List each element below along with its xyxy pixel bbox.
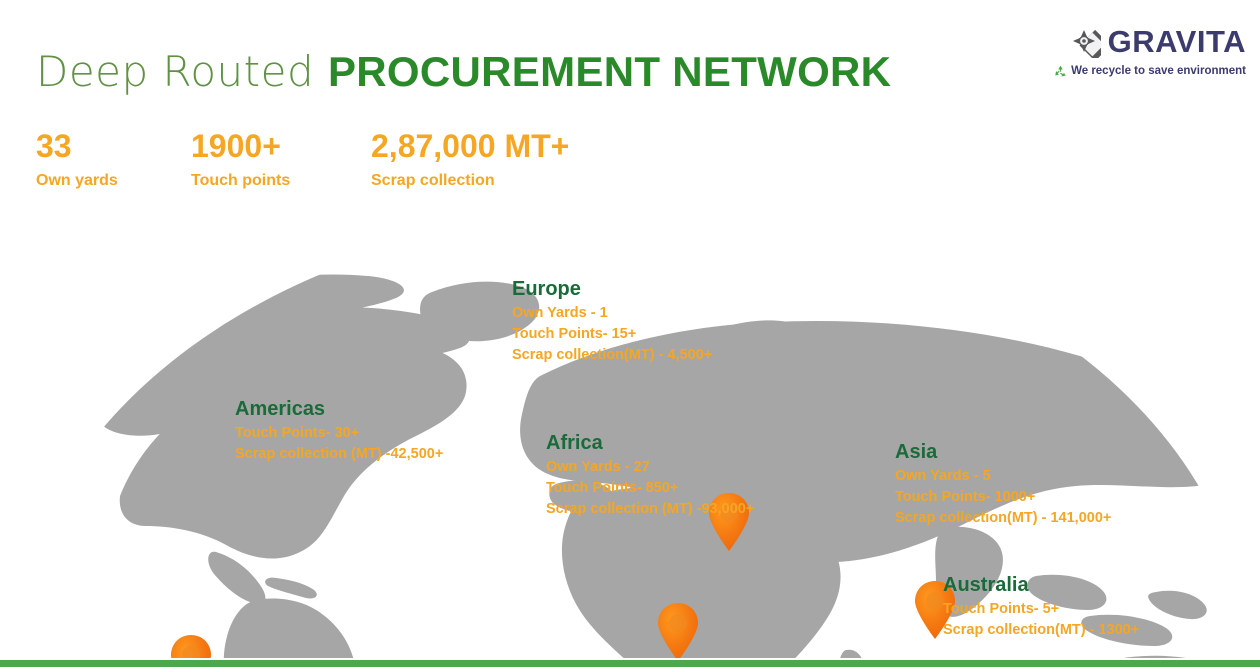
- region-stat-line: Own Yards - 5: [895, 466, 1111, 487]
- footer-accent-bar: [0, 660, 1260, 667]
- stat-label: Scrap collection: [371, 171, 631, 190]
- stat-value: 1900+: [191, 128, 371, 165]
- region-stat-line: Touch Points- 5+: [943, 599, 1139, 620]
- recycle-icon: [1053, 64, 1068, 79]
- region-name: Asia: [895, 441, 1111, 464]
- region-stat-line: Scrap collection (MT) -42,500+: [235, 444, 443, 465]
- region-stat-line: Own Yards - 1: [512, 303, 712, 324]
- stats-row: 33 Own yards 1900+ Touch points 2,87,000…: [36, 128, 631, 190]
- brand-tagline: We recycle to save environment: [1071, 66, 1246, 78]
- region-stat-line: Touch Points- 1000+: [895, 487, 1111, 508]
- region-name: Americas: [235, 398, 443, 421]
- region-label-australia: Australia Touch Points- 5+ Scrap collect…: [943, 574, 1139, 641]
- region-label-africa: Africa Own Yards - 27 Touch Points- 850+…: [546, 432, 754, 520]
- region-name: Australia: [943, 574, 1139, 597]
- region-stat-line: Own Yards - 27: [546, 457, 754, 478]
- region-stat-line: Scrap collection (MT) -93,000+: [546, 499, 754, 520]
- region-label-asia: Asia Own Yards - 5 Touch Points- 1000+ S…: [895, 441, 1111, 529]
- stat-label: Touch points: [191, 171, 371, 190]
- region-stat-line: Scrap collection(MT) - 4,500+: [512, 345, 712, 366]
- region-label-americas: Americas Touch Points- 30+ Scrap collect…: [235, 398, 443, 465]
- stat-value: 33: [36, 128, 191, 165]
- stat-scrap-collection: 2,87,000 MT+ Scrap collection: [371, 128, 631, 190]
- region-stat-line: Scrap collection(MT) - 1300+: [943, 620, 1139, 641]
- region-name: Africa: [546, 432, 754, 455]
- logo-row: GRAVITA: [1056, 24, 1246, 58]
- tagline-row: We recycle to save environment: [1056, 64, 1246, 79]
- stat-value: 2,87,000 MT+: [371, 128, 631, 165]
- region-stat-line: Scrap collection(MT) - 141,000+: [895, 508, 1111, 529]
- gravita-diamond-icon: [1067, 24, 1101, 58]
- brand-logo: GRAVITA We recycle to save environment: [1056, 24, 1246, 79]
- region-label-europe: Europe Own Yards - 1 Touch Points- 15+ S…: [512, 278, 712, 366]
- page-title-bold: PROCUREMENT NETWORK: [328, 48, 891, 95]
- region-name: Europe: [512, 278, 712, 301]
- map-pin-icon-americas[interactable]: [168, 634, 214, 658]
- region-stat-line: Touch Points- 850+: [546, 478, 754, 499]
- page-title: Deep Routed PROCUREMENT NETWORK: [36, 50, 891, 94]
- map-pin-icon-africa[interactable]: [655, 602, 701, 658]
- region-stat-line: Touch Points- 15+: [512, 324, 712, 345]
- slide-root: GRAVITA We recycle to save environment D…: [0, 0, 1260, 667]
- region-stat-line: Touch Points- 30+: [235, 423, 443, 444]
- brand-name: GRAVITA: [1108, 26, 1246, 57]
- stat-label: Own yards: [36, 171, 191, 190]
- page-title-light: Deep Routed: [36, 47, 328, 96]
- stat-own-yards: 33 Own yards: [36, 128, 191, 190]
- stat-touch-points: 1900+ Touch points: [191, 128, 371, 190]
